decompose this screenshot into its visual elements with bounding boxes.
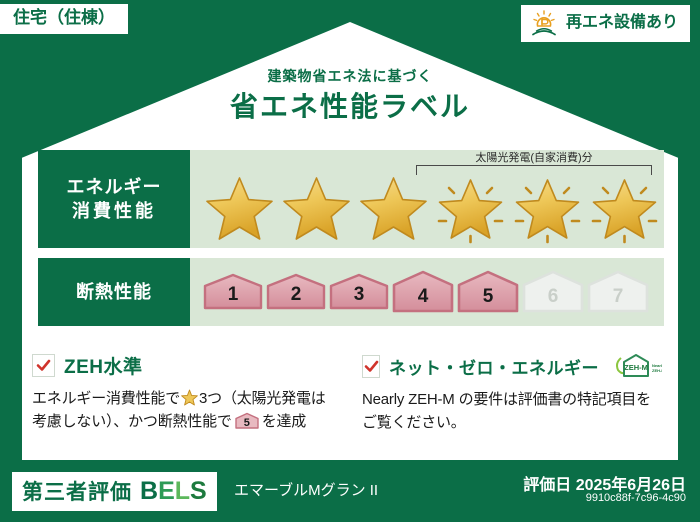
solar-annotation-text: 太陽光発電(自家消費)分 [412, 152, 656, 164]
insulation-performance-row: 断熱性能 1 2 3 4 [38, 258, 664, 326]
insulation-level-value: 2 [265, 285, 327, 304]
bels-letter-l: L [175, 477, 190, 505]
energy-performance-label: 住宅（住棟） 再エネ設備あり 建築物省エネ法に基づく 省エネ性能ラベル [0, 0, 700, 522]
bels-letter-s: S [190, 477, 207, 505]
insulation-level-value: 1 [202, 285, 264, 304]
svg-text:ZEH-M: ZEH-M [652, 368, 662, 373]
svg-text:ZEH-M: ZEH-M [624, 363, 648, 372]
energy-performance-row: エネルギー 消費性能 太陽光発電(自家消費)分 [38, 150, 664, 248]
insulation-label-text: 断熱性能 [76, 280, 152, 304]
zeh-standard-heading: ZEH水準 [64, 352, 143, 379]
bels-badge: 第三者評価 BELS [12, 472, 217, 511]
net-zero-heading: ネット・ゼロ・エネルギー [389, 354, 599, 379]
net-zero-energy-block: ネット・ゼロ・エネルギー ZEH-M Nearly ZEH-M Nearly Z… [362, 352, 662, 435]
energy-label-line2: 消費性能 [72, 199, 156, 223]
insulation-level-badge-inactive: 7 [586, 269, 650, 315]
insulation-performance-body: 1 2 3 4 5 [190, 258, 664, 326]
insulation-level-badge: 1 [202, 272, 264, 312]
net-zero-heading-row: ネット・ゼロ・エネルギー ZEH-M Nearly ZEH-M [362, 352, 662, 380]
zeh-body-part1: エネルギー消費性能で [32, 390, 180, 407]
category-tag: 住宅（住棟） [0, 4, 128, 34]
energy-star-rating [202, 172, 662, 244]
insulation-level-badge: 3 [328, 272, 390, 312]
insulation-level-badge: 5 [456, 269, 520, 315]
solar-sun-icon [529, 9, 559, 37]
bels-letter-e: E [158, 477, 175, 505]
inline-star-icon [181, 389, 198, 406]
insulation-level-scale: 1 2 3 4 5 [202, 269, 650, 315]
insulation-level-badge: 2 [265, 272, 327, 312]
check-icon [32, 354, 55, 377]
insulation-level-badge: 4 [391, 269, 455, 315]
net-zero-body: Nearly ZEH-M の要件は評価書の特記項目をご覧ください。 [362, 388, 662, 435]
star-icon [202, 172, 277, 244]
zeh-standard-body: エネルギー消費性能で3つ（太陽光発電は考慮しない）、かつ断熱性能で5を達成 [32, 387, 332, 434]
evaluation-date-label: 評価日 [523, 477, 571, 494]
insulation-level-value: 7 [586, 287, 650, 306]
label-subtitle: 建築物省エネ法に基づく [0, 66, 700, 86]
check-icon [362, 355, 380, 378]
insulation-level-badge-inactive: 6 [521, 269, 585, 315]
renewable-badge-label: 再エネ設備あり [566, 14, 678, 32]
footer-bar: 第三者評価 BELS エマーブルMグラン II 評価日 2025年6月26日 9… [0, 462, 700, 522]
energy-performance-label: エネルギー 消費性能 [38, 150, 190, 248]
renewable-equipment-badge: 再エネ設備あり [521, 5, 690, 42]
bels-letter-b: B [140, 477, 158, 505]
inline-level-value: 5 [234, 418, 260, 429]
star-icon-solar [510, 172, 585, 244]
label-title: 省エネ性能ラベル [0, 85, 700, 125]
star-icon [356, 172, 431, 244]
zeh-standard-block: ZEH水準 エネルギー消費性能で3つ（太陽光発電は考慮しない）、かつ断熱性能で5… [32, 352, 332, 434]
zeh-m-logo-icon: ZEH-M Nearly ZEH-M [608, 352, 662, 380]
building-name: エマーブルMグラン II [234, 479, 378, 500]
energy-performance-body: 太陽光発電(自家消費)分 [190, 150, 664, 248]
zeh-body-star-count: 3つ（太陽光発電 [199, 390, 311, 407]
insulation-level-value: 6 [521, 287, 585, 306]
zeh-body-part3: を達成 [262, 413, 306, 430]
star-icon-solar [433, 172, 508, 244]
zeh-standard-heading-row: ZEH水準 [32, 352, 332, 379]
evaluation-id: 9910c88f-7c96-4c90 [586, 492, 686, 504]
star-icon-solar [587, 172, 662, 244]
inline-level-badge: 5 [234, 412, 260, 430]
insulation-performance-label: 断熱性能 [38, 258, 190, 326]
bels-wordmark: BELS [140, 477, 207, 506]
star-icon [279, 172, 354, 244]
insulation-level-value: 4 [391, 287, 455, 306]
third-party-label: 第三者評価 [22, 476, 132, 506]
energy-label-line1: エネルギー [67, 175, 162, 199]
insulation-level-value: 3 [328, 285, 390, 304]
insulation-level-value: 5 [456, 287, 520, 306]
